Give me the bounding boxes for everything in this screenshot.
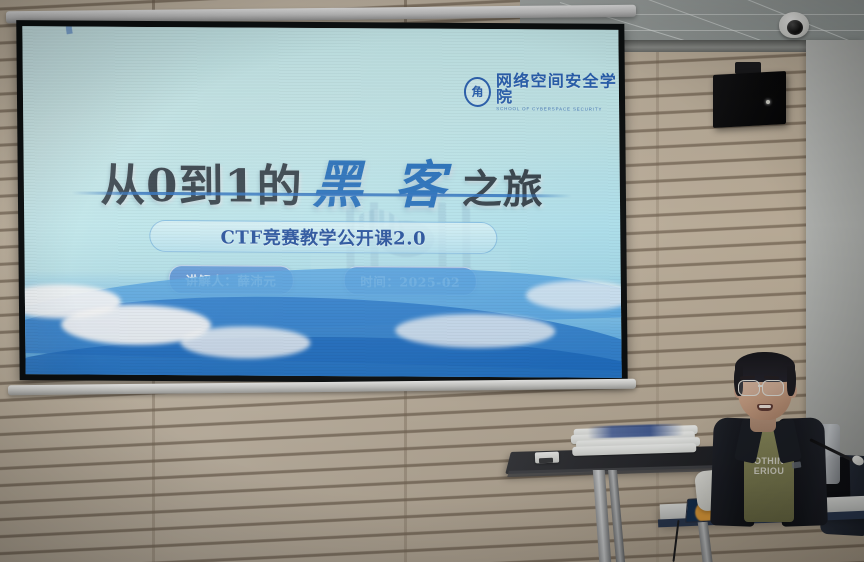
slide-subtitle-pill: CTF竞赛教学公开课2.0 — [149, 220, 497, 254]
school-logo: 角 网络空间安全学院 SCHOOL OF CYBERSPACE SECURITY — [464, 72, 619, 112]
wall-speaker — [713, 71, 786, 128]
title-part-a: 从0到1的 — [100, 148, 303, 214]
slide-subtitle-text: CTF竞赛教学公开课2.0 — [220, 224, 426, 251]
logo-emblem-icon: 角 — [464, 77, 491, 107]
logo-text-block: 网络空间安全学院 SCHOOL OF CYBERSPACE SECURITY — [496, 73, 619, 113]
camera-lens-icon — [787, 20, 803, 35]
slide-title: 从0到1的 黑 客 之旅 — [23, 141, 620, 219]
glasses-lens-icon — [762, 380, 784, 396]
title-part-b: 黑 客 — [311, 143, 452, 218]
title-part-c: 之旅 — [461, 157, 544, 215]
presentation-slide: 角 网络空间安全学院 SCHOOL OF CYBERSPACE SECURITY… — [22, 26, 621, 378]
presenter: OTHIN ERIOU — [706, 352, 836, 562]
logo-glyph: 角 — [471, 86, 483, 98]
teeth — [759, 405, 771, 408]
wall-seam — [656, 0, 659, 562]
jacket-logo-icon — [792, 461, 802, 468]
hair-side — [787, 366, 796, 396]
projection-screen: 角 网络空间安全学院 SCHOOL OF CYBERSPACE SECURITY… — [16, 20, 628, 384]
lecture-room-photo: 角 网络空间安全学院 SCHOOL OF CYBERSPACE SECURITY… — [0, 0, 864, 562]
remote-control-tip — [539, 458, 553, 463]
glasses-bridge-icon — [758, 385, 763, 387]
stacked-handouts — [574, 425, 699, 459]
logo-chinese-name: 网络空间安全学院 — [496, 73, 619, 106]
glasses-lens-icon — [738, 380, 760, 396]
speaker-led-icon — [766, 100, 770, 104]
tshirt-print-line2: ERIOU — [746, 466, 792, 476]
logo-english-name: SCHOOL OF CYBERSPACE SECURITY — [496, 107, 619, 112]
